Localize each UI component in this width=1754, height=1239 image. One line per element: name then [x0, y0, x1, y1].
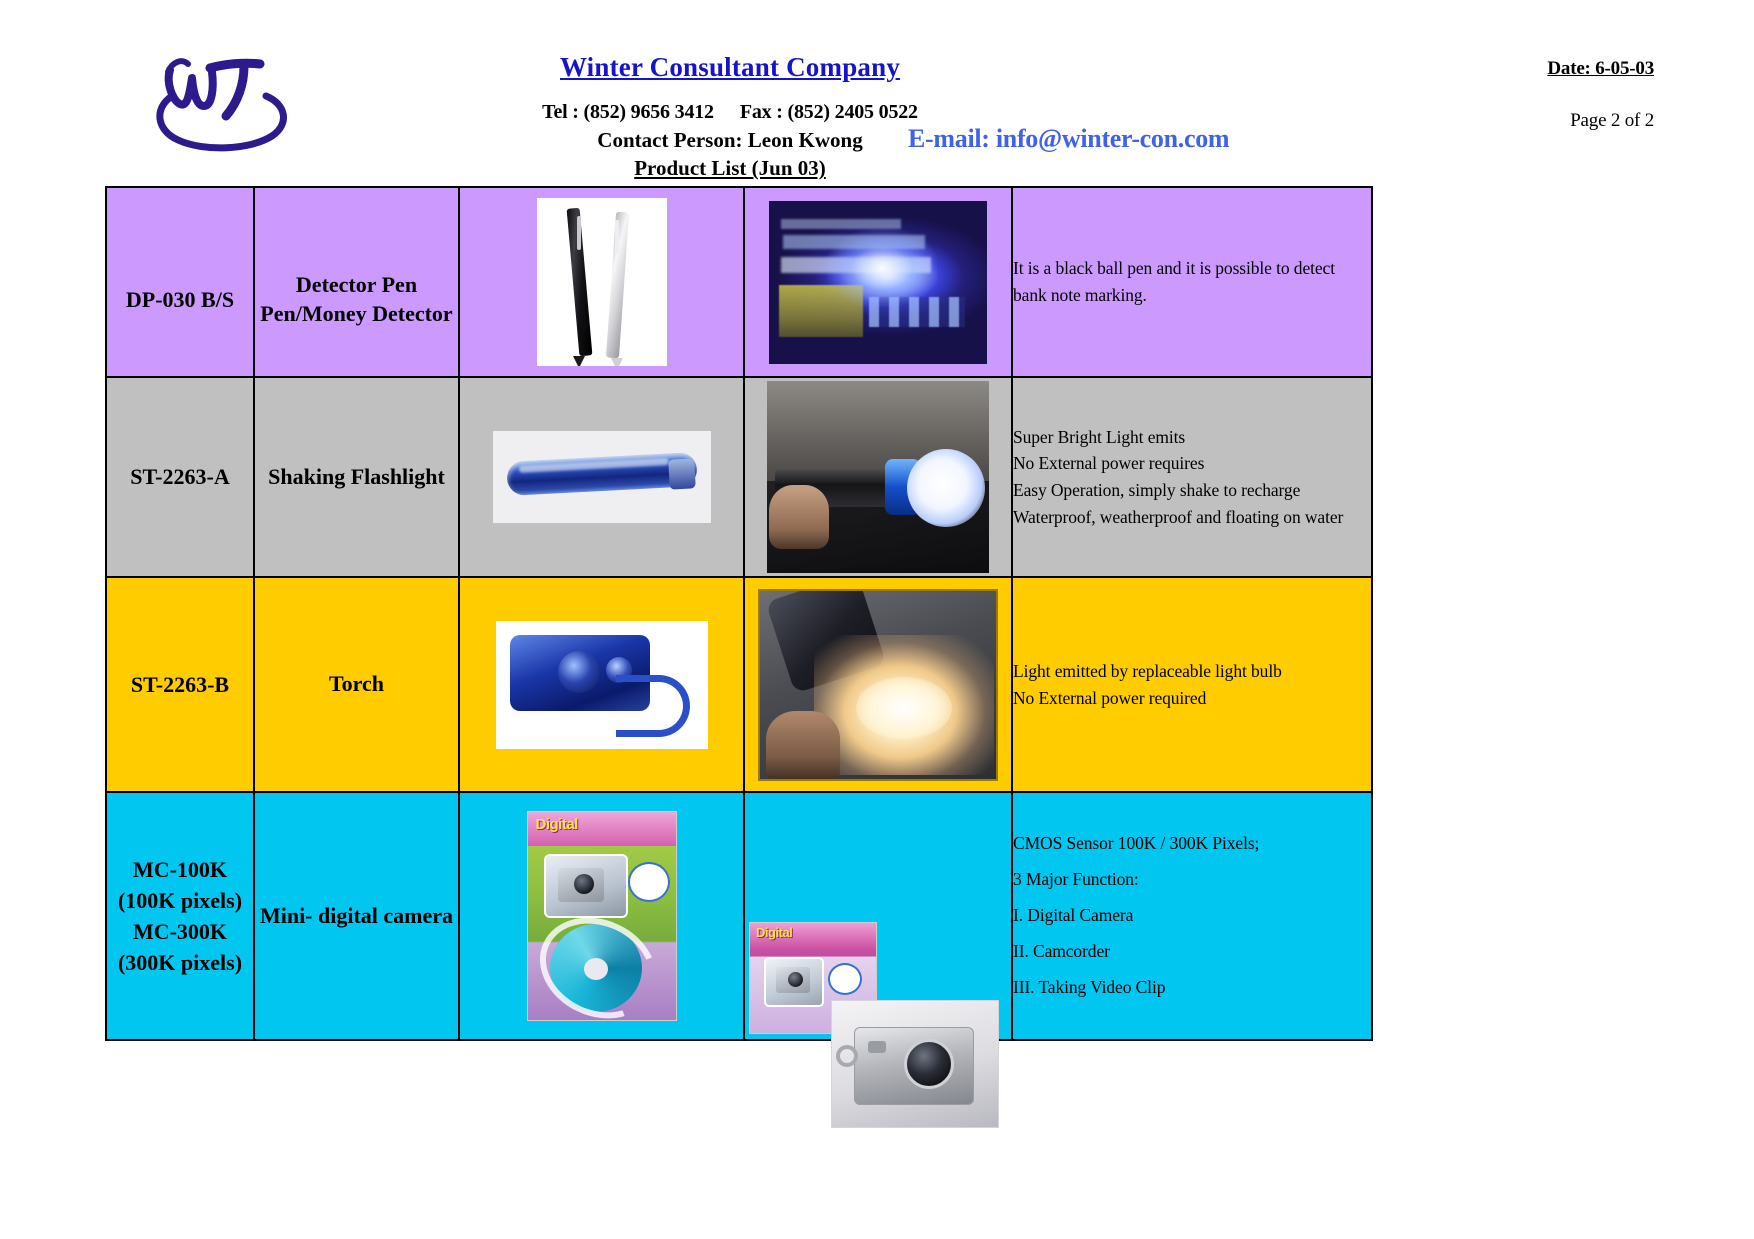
document-header: Winter Consultant Company Tel : (852) 96…: [0, 0, 1754, 185]
product-description-cell: It is a black ball pen and it is possibl…: [1012, 187, 1372, 377]
description-line: I. Digital Camera: [1013, 898, 1371, 934]
product-image-secondary-cell: [744, 577, 1012, 792]
page-number: Page 2 of 2: [1324, 110, 1654, 132]
product-description-cell: Super Bright Light emits No External pow…: [1012, 377, 1372, 577]
product-description-cell: Light emitted by replaceable light bulb …: [1012, 577, 1372, 792]
product-image-secondary-cell: [744, 187, 1012, 377]
description-line: Light emitted by replaceable light bulb: [1013, 658, 1371, 685]
product-code-cell: ST-2263-B: [106, 577, 254, 792]
product-list-title: Product List (Jun 03): [390, 154, 1070, 182]
table-row: ST-2263-A Shaking Flashlight: [106, 377, 1372, 577]
uv-banknote-photo: [745, 201, 1011, 364]
description-line: bank note marking.: [1013, 282, 1371, 309]
table-row: MC-100K (100K pixels) MC-300K (300K pixe…: [106, 792, 1372, 1040]
description-line: III. Taking Video Clip: [1013, 970, 1371, 1006]
product-code-cell: MC-100K (100K pixels) MC-300K (300K pixe…: [106, 792, 254, 1040]
product-code-line4: (300K pixels): [107, 947, 253, 978]
product-code-line3: MC-300K: [107, 916, 253, 947]
description-line: 3 Major Function:: [1013, 862, 1371, 898]
company-logo-icon: [148, 38, 298, 158]
email-address: E-mail: info@winter-con.com: [908, 124, 1229, 154]
contact-tel-fax: Tel : (852) 9656 3412Fax : (852) 2405 05…: [390, 99, 1070, 126]
product-name-cell: Torch: [254, 577, 459, 792]
header-right-block: Date: 6-05-03 Page 2 of 2: [1324, 58, 1654, 132]
document-page: Winter Consultant Company Tel : (852) 96…: [0, 0, 1754, 1239]
table-row: ST-2263-B Torch: [106, 577, 1372, 792]
product-name-line1: Detector Pen: [255, 271, 458, 300]
product-image-primary-cell: [459, 577, 744, 792]
document-date: Date: 6-05-03: [1324, 58, 1654, 80]
product-code-line2: (100K pixels): [107, 885, 253, 916]
header-center-block: Winter Consultant Company Tel : (852) 96…: [390, 52, 1070, 183]
description-line: It is a black ball pen and it is possibl…: [1013, 255, 1371, 282]
product-name-line1: Torch: [255, 670, 458, 699]
product-image-primary-cell: [459, 377, 744, 577]
table-row: DP-030 B/S Detector Pen Pen/Money Detect…: [106, 187, 1372, 377]
product-name-line2: Pen/Money Detector: [255, 300, 458, 329]
telephone-number: Tel : (852) 9656 3412: [542, 99, 714, 126]
description-line: No External power required: [1013, 685, 1371, 712]
product-code-line1: MC-100K: [107, 854, 253, 885]
description-line: Waterproof, weatherproof and floating on…: [1013, 504, 1371, 531]
product-image-primary-cell: [459, 187, 744, 377]
product-code: DP-030 B/S: [107, 248, 253, 315]
description-line: Easy Operation, simply shake to recharge: [1013, 477, 1371, 504]
torch-beam-glow-photo: [745, 589, 1011, 781]
product-name-line1: Mini- digital camera: [255, 902, 458, 931]
hand-holding-lit-flashlight-photo: [745, 381, 1011, 573]
product-code-cell: ST-2263-A: [106, 377, 254, 577]
blue-torch-photo: [460, 621, 743, 749]
description-line: CMOS Sensor 100K / 300K Pixels;: [1013, 826, 1371, 862]
product-image-secondary-cell: Digital: [744, 792, 1012, 1040]
description-line: II. Camcorder: [1013, 934, 1371, 970]
product-code: ST-2263-B: [107, 669, 253, 700]
product-code-cell: DP-030 B/S: [106, 187, 254, 377]
detector-pen-photo: [460, 198, 743, 366]
product-name-line1: Shaking Flashlight: [255, 463, 458, 492]
product-image-secondary-cell: [744, 377, 1012, 577]
product-list-table: DP-030 B/S Detector Pen Pen/Money Detect…: [105, 186, 1373, 1041]
description-line: No External power requires: [1013, 450, 1371, 477]
fax-number: Fax : (852) 2405 0522: [740, 99, 918, 126]
product-image-primary-cell: Digital: [459, 792, 744, 1040]
product-name-cell: Mini- digital camera: [254, 792, 459, 1040]
product-name-cell: Shaking Flashlight: [254, 377, 459, 577]
camera-retail-package-photo: Digital: [460, 811, 743, 1021]
product-description-cell: CMOS Sensor 100K / 300K Pixels; 3 Major …: [1012, 792, 1372, 1040]
product-code: ST-2263-A: [107, 461, 253, 492]
description-line: Super Bright Light emits: [1013, 424, 1371, 451]
product-name-cell: Detector Pen Pen/Money Detector: [254, 187, 459, 377]
company-name: Winter Consultant Company: [560, 52, 900, 83]
blue-flashlight-photo: [460, 431, 743, 523]
